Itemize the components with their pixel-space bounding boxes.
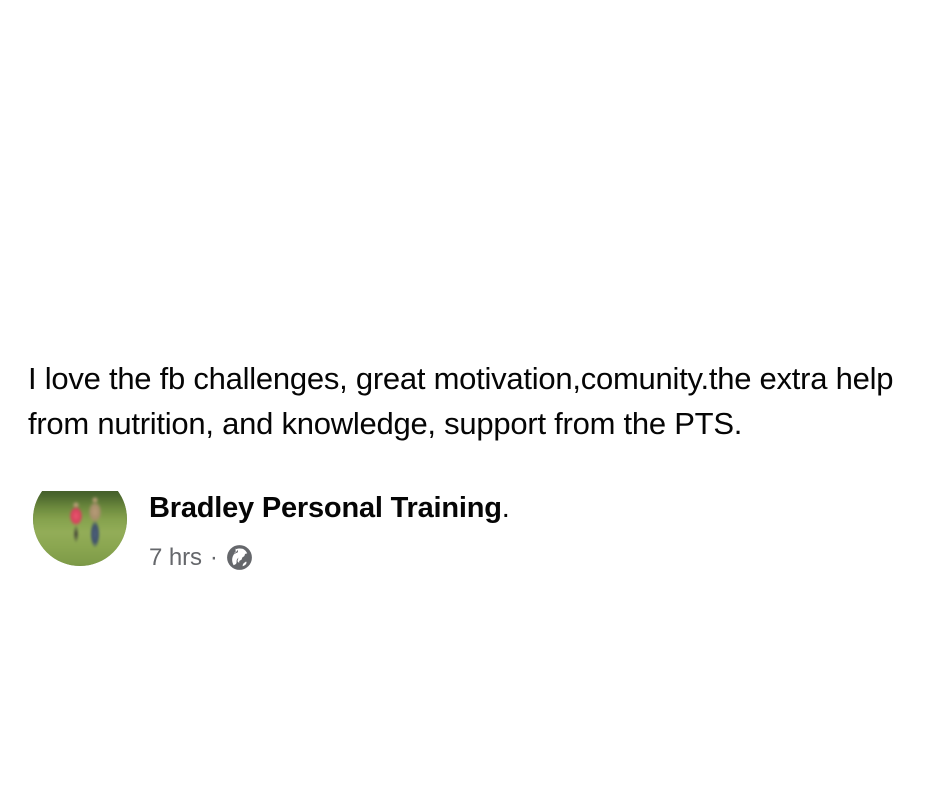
meta-separator: · [209, 546, 219, 570]
post-header: Bradley Personal Training. 7 hrs · [0, 236, 940, 348]
avatar[interactable] [33, 472, 127, 566]
post-timestamp[interactable]: 7 hrs [149, 546, 202, 570]
author-name-suffix: . [502, 492, 510, 524]
post-body-text: I love the fb challenges, great motivati… [28, 356, 918, 446]
post-meta: 7 hrs · [149, 544, 253, 571]
post-screen: Bradley Personal Training. 7 hrs · I lov… [0, 0, 940, 788]
author-name[interactable]: Bradley Personal Training [149, 492, 502, 524]
avatar-photo [33, 472, 127, 566]
globe-icon[interactable] [226, 544, 253, 571]
author-line: Bradley Personal Training. [149, 494, 510, 523]
